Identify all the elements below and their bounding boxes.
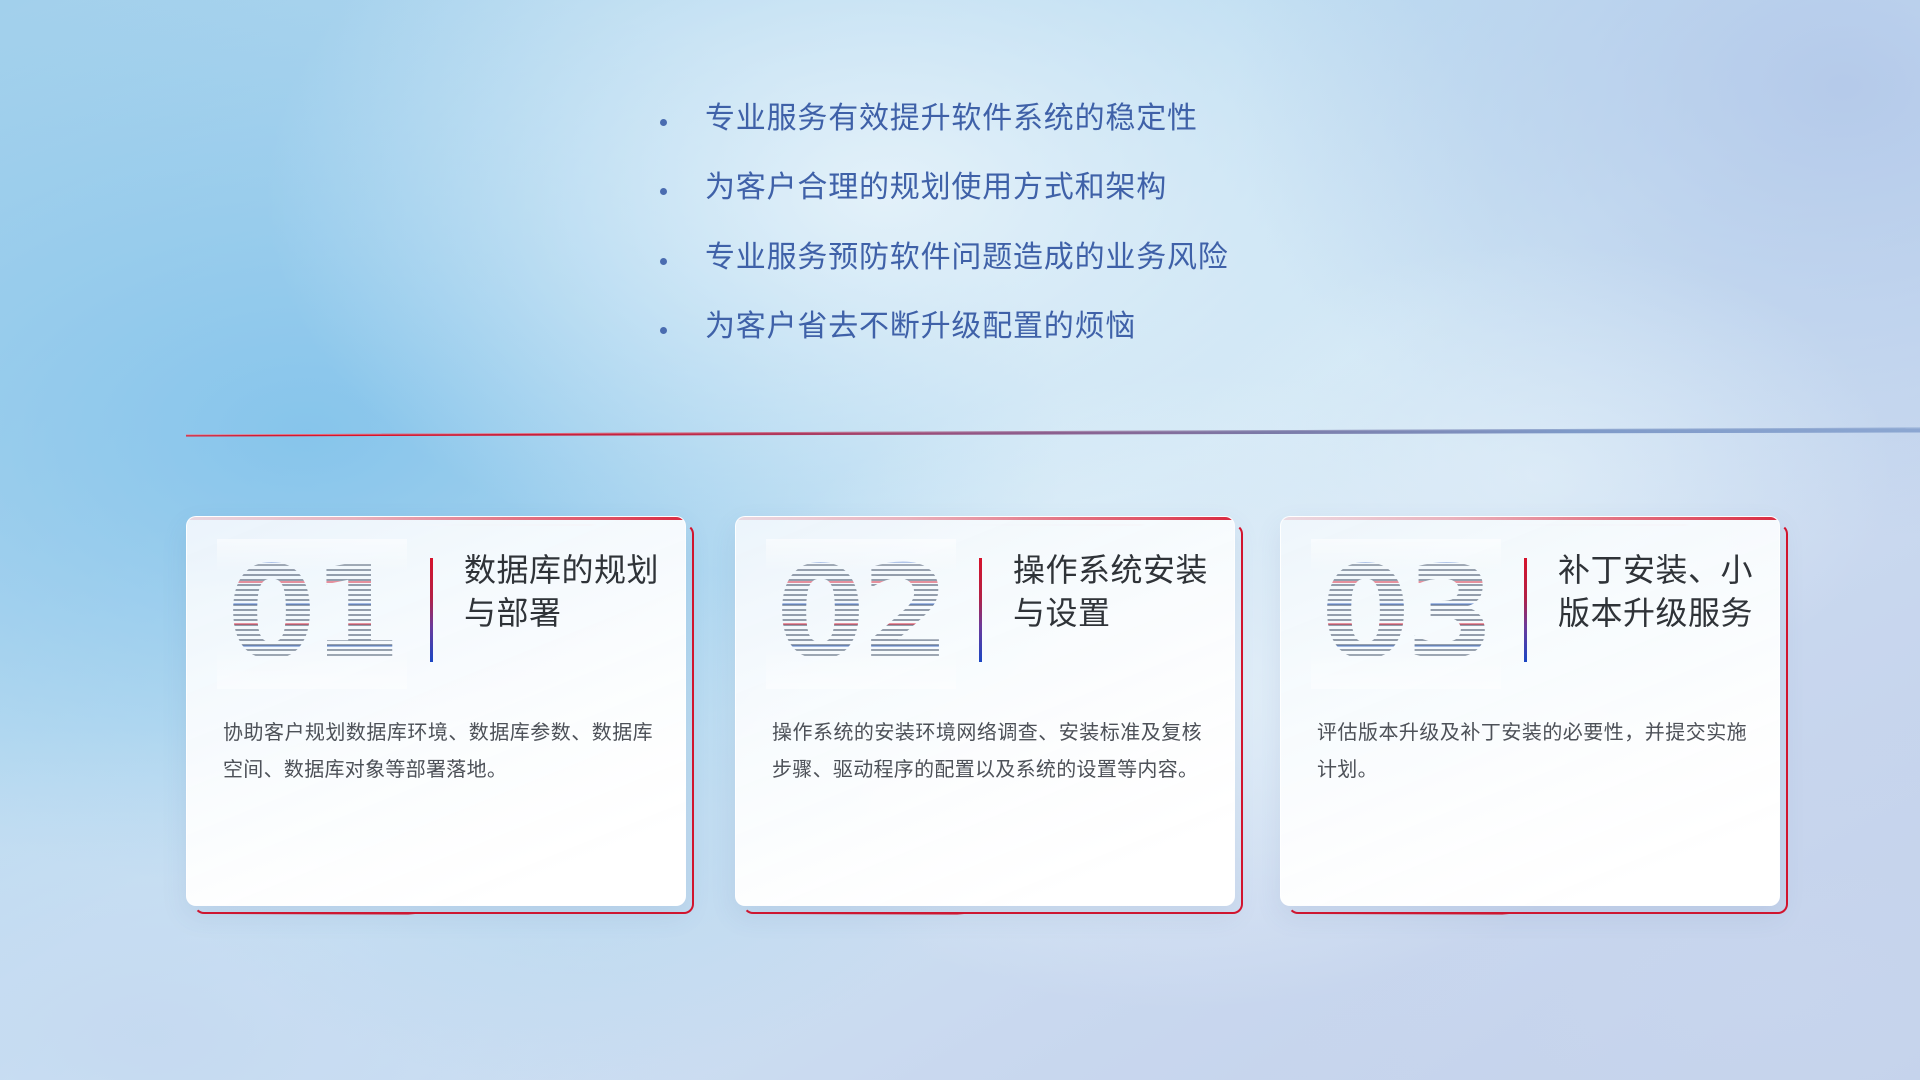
list-item: 为客户合理的规划使用方式和架构 [660,169,1420,207]
card-number-watermark: 03 03 [1311,539,1501,689]
card-body: 03 03 补丁安装、小版本升级服务 评估版本升级及补丁安装的必要性，并提交实施… [1280,516,1780,906]
card-number-tint: 01 [217,539,407,689]
card-number-watermark: 01 01 [217,539,407,689]
card-description: 操作系统的安装环境网络调查、安装标准及复核步骤、驱动程序的配置以及系统的设置等内… [772,715,1202,789]
card-title: 数据库的规划与部署 [464,549,674,635]
bullet-dot-icon [660,258,667,265]
card-top-accent [736,517,1234,520]
bullet-text: 专业服务有效提升软件系统的稳定性 [705,100,1198,138]
bullet-text: 为客户合理的规划使用方式和架构 [705,169,1167,207]
card-number-tint: 02 [766,539,956,689]
card-description: 协助客户规划数据库环境、数据库参数、数据库空间、数据库对象等部署落地。 [223,715,653,789]
card-body: 02 02 操作系统安装与设置 操作系统的安装环境网络调查、安装标准及复核步骤、… [735,516,1235,906]
bullet-text: 专业服务预防软件问题造成的业务风险 [705,239,1229,277]
card-title-divider [430,558,433,662]
card-number-tint: 03 [1311,539,1501,689]
service-card[interactable]: 03 03 补丁安装、小版本升级服务 评估版本升级及补丁安装的必要性，并提交实施… [1280,516,1780,906]
service-card[interactable]: 02 02 操作系统安装与设置 操作系统的安装环境网络调查、安装标准及复核步骤、… [735,516,1235,906]
bullet-dot-icon [660,188,667,195]
section-divider [0,420,1920,442]
list-item: 专业服务预防软件问题造成的业务风险 [660,239,1420,277]
card-description: 评估版本升级及补丁安装的必要性，并提交实施计划。 [1317,715,1747,789]
list-item: 为客户省去不断升级配置的烦恼 [660,308,1420,346]
card-number-watermark: 02 02 [766,539,956,689]
card-title: 操作系统安装与设置 [1013,549,1223,635]
card-body: 01 01 数据库的规划与部署 协助客户规划数据库环境、数据库参数、数据库空间、… [186,516,686,906]
bullet-dot-icon [660,327,667,334]
bullet-dot-icon [660,119,667,126]
card-title-divider [979,558,982,662]
card-top-accent [1281,517,1779,520]
card-title: 补丁安装、小版本升级服务 [1558,549,1768,635]
benefits-bullet-list: 专业服务有效提升软件系统的稳定性 为客户合理的规划使用方式和架构 专业服务预防软… [660,100,1420,378]
card-top-accent [187,517,685,520]
list-item: 专业服务有效提升软件系统的稳定性 [660,100,1420,138]
service-card[interactable]: 01 01 数据库的规划与部署 协助客户规划数据库环境、数据库参数、数据库空间、… [186,516,686,906]
bullet-text: 为客户省去不断升级配置的烦恼 [705,308,1136,346]
card-title-divider [1524,558,1527,662]
